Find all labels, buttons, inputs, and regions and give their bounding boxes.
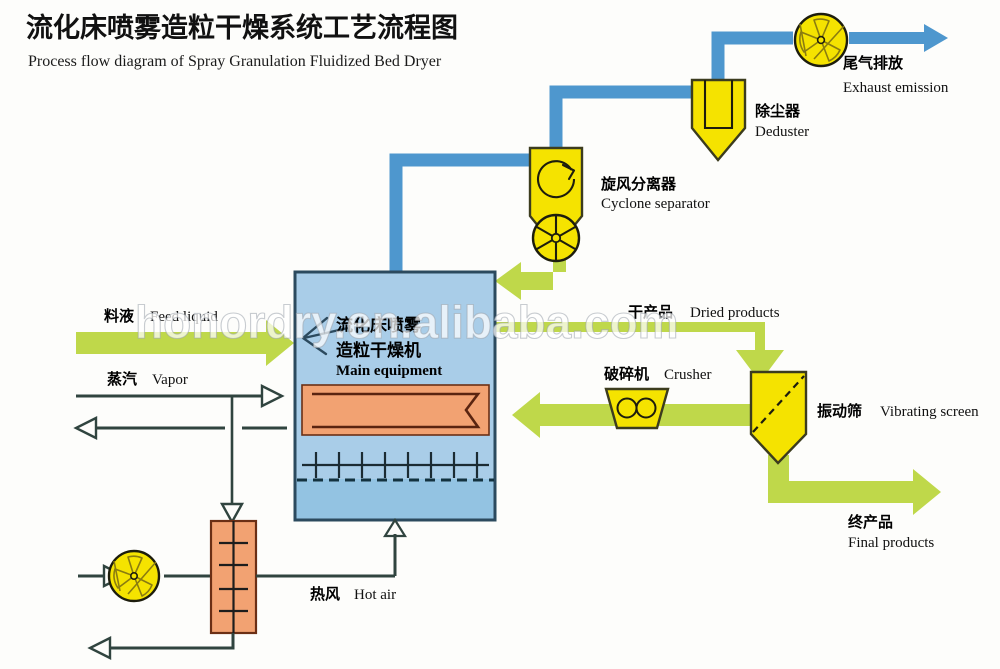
label-exhaust-en: Exhaust emission [843,80,949,96]
label-crusher-en: Crusher [664,367,712,383]
label-vibrating-screen-en: Vibrating screen [880,404,979,420]
label-cyclone-cn: 旋风分离器 [600,175,677,193]
label-hot-air-cn: 热风 [310,585,340,603]
heat-exchanger-icon[interactable] [211,521,256,633]
page-title-cn: 流化床喷雾造粒干燥系统工艺流程图 [26,12,458,44]
process-flow-diagram: 流化床喷雾造粒干燥系统工艺流程图 Process flow diagram of… [0,0,1000,669]
label-hot-air-en: Hot air [354,587,396,603]
label-final-products-en: Final products [848,535,934,551]
rotary-valve-icon[interactable] [533,215,579,261]
label-deduster-en: Deduster [755,124,809,140]
page-title-en: Process flow diagram of Spray Granulatio… [28,53,442,70]
hot-air-line [256,534,395,576]
air-inlet-fan-icon[interactable] [109,551,159,601]
condensate-drain-line [90,633,233,658]
label-crusher-cn: 破碎机 [604,365,649,383]
label-deduster-cn: 除尘器 [755,102,801,120]
label-vapor-en: Vapor [152,372,188,388]
diagram-page: 流化床喷雾造粒干燥系统工艺流程图 Process flow diagram of… [0,0,1000,669]
watermark: honordry.en.alibaba.com [135,296,679,348]
label-vapor-cn: 蒸汽 [107,370,137,388]
vapor-lines [76,386,287,522]
label-dried-products-en: Dried products [690,305,780,321]
vibrating-screen[interactable] [751,372,806,463]
label-cyclone-en: Cyclone separator [601,196,710,212]
granulation-bed-band [302,385,489,435]
label-exhaust-cn: 尾气排放 [843,54,904,72]
exhaust-fan-icon[interactable] [795,14,847,66]
label-feed-liquid-cn: 料液 [104,307,135,325]
label-vibrating-screen-cn: 振动筛 [817,402,862,420]
label-final-products-cn: 终产品 [848,513,893,531]
green-solids-flow [76,255,941,515]
crusher[interactable] [606,389,668,428]
deduster[interactable] [692,80,745,160]
main-equipment-label-en: Main equipment [336,363,442,379]
